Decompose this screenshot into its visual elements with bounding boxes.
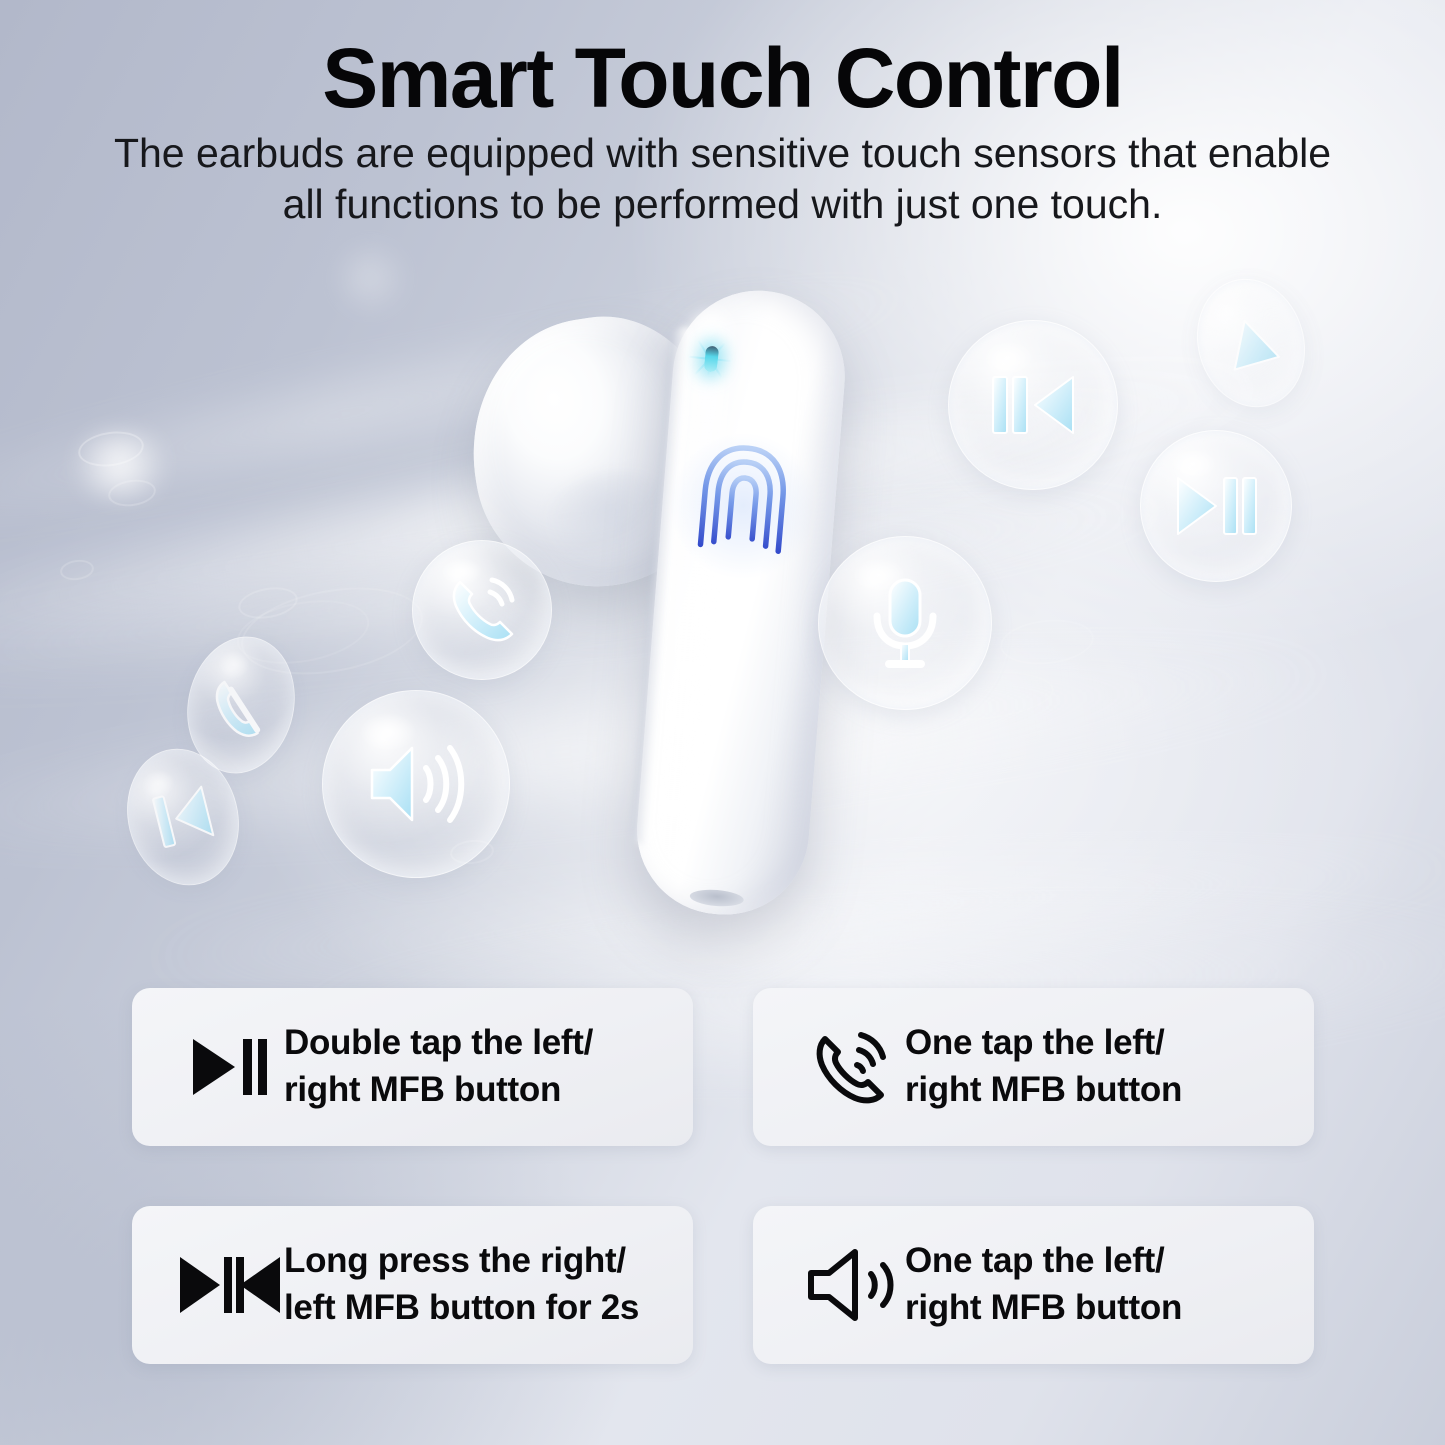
feature-card-play-pause[interactable]: Double tap the left/ right MFB button <box>132 988 693 1146</box>
feature-card-text: One tap the left/ right MFB button <box>905 1020 1182 1113</box>
bubble-volume-up <box>1182 266 1320 420</box>
bubble-play-pause <box>1140 430 1292 582</box>
feature-card-call[interactable]: One tap the left/ right MFB button <box>753 988 1314 1146</box>
infographic-page: Smart Touch Control The earbuds are equi… <box>0 0 1445 1445</box>
feature-card-line2: right MFB button <box>284 1067 593 1114</box>
feature-card-text: Long press the right/ left MFB button fo… <box>284 1238 639 1331</box>
bubble-microphone <box>818 536 992 710</box>
microphone-icon <box>863 574 947 672</box>
feature-card-line1: One tap the left/ <box>905 1020 1182 1067</box>
play-pause-icon <box>176 1021 284 1113</box>
page-title: Smart Touch Control <box>0 36 1445 122</box>
volume-up-icon <box>1213 305 1290 382</box>
bubble-previous-track <box>948 320 1118 490</box>
volume-icon <box>797 1239 905 1331</box>
feature-card-next-prev-track[interactable]: Long press the right/ left MFB button fo… <box>132 1206 693 1364</box>
feature-card-line1: Double tap the left/ <box>284 1020 593 1067</box>
feature-card-volume[interactable]: One tap the left/ right MFB button <box>753 1206 1314 1364</box>
page-subtitle: The earbuds are equipped with sensitive … <box>100 128 1345 231</box>
feature-card-grid: Double tap the left/ right MFB button On… <box>132 988 1314 1364</box>
feature-card-text: One tap the left/ right MFB button <box>905 1238 1182 1331</box>
feature-card-line2: right MFB button <box>905 1285 1182 1332</box>
feature-card-line1: One tap the left/ <box>905 1238 1182 1285</box>
next-prev-track-icon <box>176 1239 284 1331</box>
feature-card-line2: left MFB button for 2s <box>284 1285 639 1332</box>
feature-card-line2: right MFB button <box>905 1067 1182 1114</box>
play-pause-icon <box>1174 473 1258 539</box>
answer-call-icon <box>442 570 522 650</box>
feature-card-line1: Long press the right/ <box>284 1238 639 1285</box>
call-icon <box>797 1021 905 1113</box>
speaker-waves-icon <box>364 738 468 830</box>
fingerprint-touch-sensor <box>682 437 805 574</box>
feature-card-text: Double tap the left/ right MFB button <box>284 1020 593 1113</box>
end-call-icon <box>199 663 282 746</box>
bubble-answer-call <box>412 540 552 680</box>
bubble-volume <box>322 690 510 878</box>
status-led-indicator <box>697 337 725 379</box>
previous-track-icon <box>987 369 1079 441</box>
previous-track-small-icon <box>143 779 222 855</box>
